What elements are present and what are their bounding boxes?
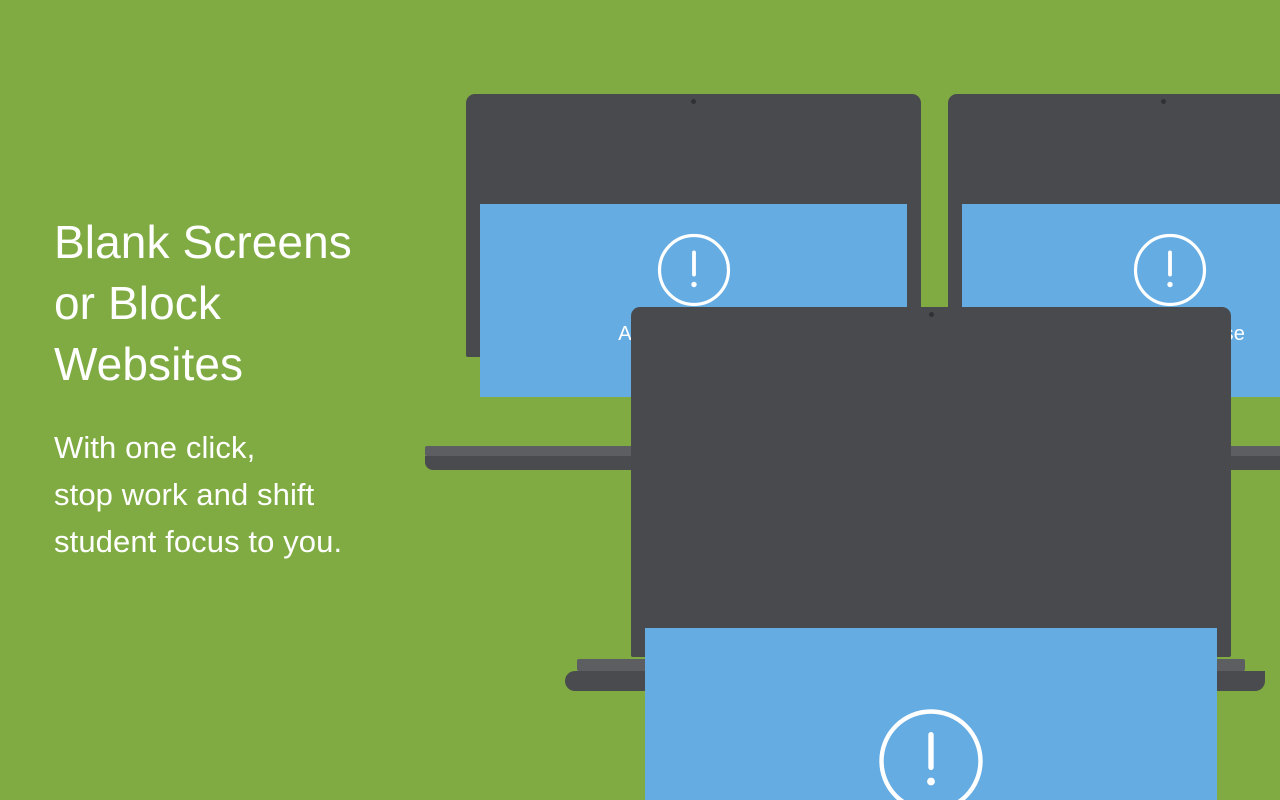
laptop-screen[interactable]: Attention Please bbox=[645, 628, 1217, 800]
page-subtitle: With one click, stop work and shift stud… bbox=[54, 395, 454, 565]
exclamation-circle-icon bbox=[656, 232, 732, 308]
webcam-icon bbox=[929, 312, 934, 317]
laptop-front-center: Attention Please bbox=[565, 307, 1280, 692]
webcam-icon bbox=[1161, 99, 1166, 104]
exclamation-circle-icon bbox=[877, 707, 985, 800]
exclamation-circle-icon bbox=[1132, 232, 1208, 308]
laptop-lid bbox=[631, 307, 1231, 657]
webcam-icon bbox=[691, 99, 696, 104]
promo-slide: Blank Screens or Block Websites With one… bbox=[0, 0, 1280, 800]
copy-block: Blank Screens or Block Websites With one… bbox=[54, 212, 454, 565]
page-title: Blank Screens or Block Websites bbox=[54, 212, 454, 395]
